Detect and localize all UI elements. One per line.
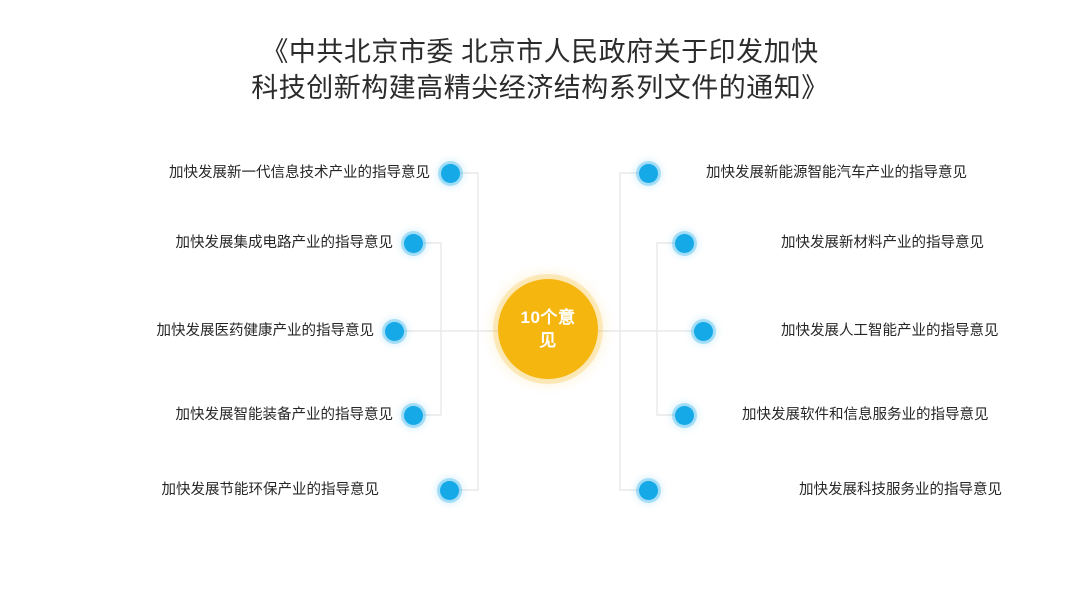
- label-right-5[interactable]: 加快发展科技服务业的指导意见: [799, 480, 1049, 500]
- node-left-2[interactable]: [404, 234, 423, 253]
- label-right-1[interactable]: 加快发展新能源智能汽车产业的指导意见: [706, 163, 1036, 183]
- left-inner-bracket: [413, 243, 441, 415]
- node-right-3[interactable]: [694, 322, 713, 341]
- node-right-2[interactable]: [675, 234, 694, 253]
- slide-canvas: 《中共北京市委 北京市人民政府关于印发加快 科技创新构建高精尖经济结构系列文件的…: [0, 0, 1080, 608]
- center-hub[interactable]: 10个意见: [498, 279, 598, 379]
- node-left-5[interactable]: [440, 481, 459, 500]
- center-hub-label: 10个意见: [512, 306, 584, 352]
- node-right-4[interactable]: [675, 406, 694, 425]
- node-left-4[interactable]: [404, 406, 423, 425]
- label-right-2[interactable]: 加快发展新材料产业的指导意见: [781, 233, 1041, 253]
- node-left-1[interactable]: [441, 164, 460, 183]
- right-inner-bracket: [657, 243, 684, 415]
- label-right-4[interactable]: 加快发展软件和信息服务业的指导意见: [742, 405, 1042, 425]
- node-left-3[interactable]: [385, 322, 404, 341]
- label-left-5[interactable]: 加快发展节能环保产业的指导意见: [50, 480, 379, 500]
- node-right-5[interactable]: [639, 481, 658, 500]
- label-left-1[interactable]: 加快发展新一代信息技术产业的指导意见: [50, 163, 430, 183]
- label-right-3[interactable]: 加快发展人工智能产业的指导意见: [781, 321, 1051, 341]
- label-left-2[interactable]: 加快发展集成电路产业的指导意见: [50, 233, 393, 253]
- node-right-1[interactable]: [639, 164, 658, 183]
- label-left-4[interactable]: 加快发展智能装备产业的指导意见: [50, 405, 393, 425]
- label-left-3[interactable]: 加快发展医药健康产业的指导意见: [50, 321, 374, 341]
